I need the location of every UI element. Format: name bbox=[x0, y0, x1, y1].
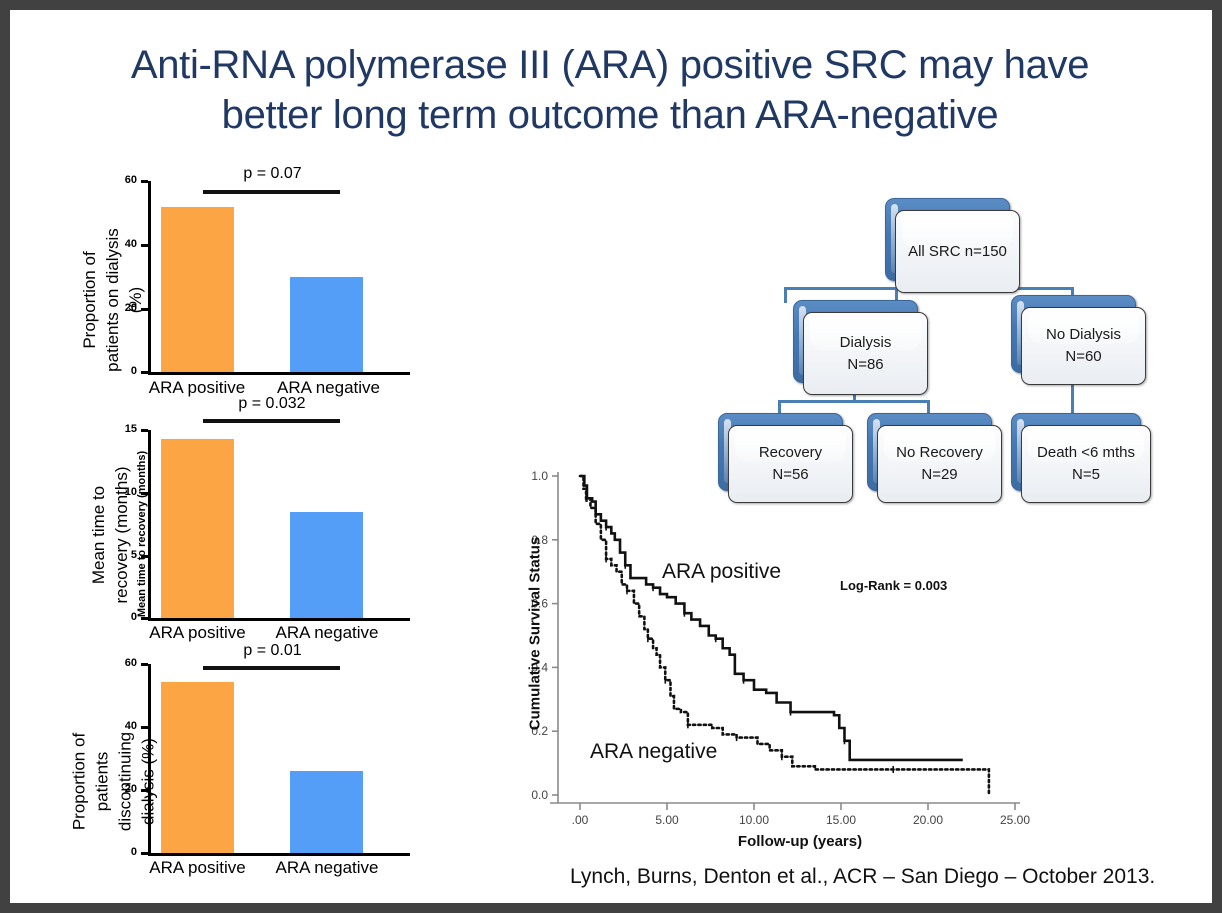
svg-text:25.00: 25.00 bbox=[1000, 813, 1030, 827]
chart2-ytick-label-15: 15 bbox=[109, 423, 137, 435]
chart3-significance-bar bbox=[203, 666, 340, 670]
chart1-bar-ara-negative[interactable] bbox=[290, 277, 363, 372]
chart3-y-axis bbox=[148, 664, 151, 856]
chart2-y-axis-label: Mean time to recovery (months) bbox=[87, 445, 137, 625]
flow-node-label: All SRC n=150 bbox=[908, 241, 1007, 263]
flow-node-count: N=56 bbox=[772, 464, 808, 486]
chart3-ytick-label-40: 40 bbox=[109, 720, 137, 732]
chart3-p-value: p = 0.01 bbox=[205, 642, 340, 660]
chart2-ytick-10 bbox=[141, 492, 148, 495]
chart3-ytick-40 bbox=[141, 726, 148, 729]
chart3-ytick-label-20: 20 bbox=[109, 783, 137, 795]
chart3-x-axis bbox=[148, 853, 410, 856]
km-censor-marks-positive bbox=[587, 495, 845, 744]
chart-discontinuing-dialysis: Proportion of patients discontinuing dia… bbox=[60, 642, 410, 887]
km-y-axis-label: Cumulative Survival Status bbox=[527, 524, 544, 744]
chart1-ytick-60 bbox=[141, 180, 148, 183]
title-line-1: Anti-RNA polymerase III (ARA) positive S… bbox=[131, 43, 1089, 87]
citation-footer: Lynch, Burns, Denton et al., ACR – San D… bbox=[570, 865, 1210, 889]
flow-node-dialysis[interactable]: Dialysis N=86 bbox=[793, 300, 928, 395]
chart3-category-label-positive: ARA positive bbox=[140, 858, 255, 878]
chart2-ytick-15 bbox=[141, 429, 148, 432]
flow-node-label: Dialysis bbox=[840, 332, 892, 354]
chart3-ytick-20 bbox=[141, 789, 148, 792]
chart2-significance-bar bbox=[203, 419, 340, 423]
km-x-ticks: .005.0010.0015.0020.0025.00 bbox=[572, 803, 1031, 827]
slide-canvas: Anti-RNA polymerase III (ARA) positive S… bbox=[10, 10, 1212, 903]
svg-text:5.00: 5.00 bbox=[655, 813, 679, 827]
flow-node-all-src[interactable]: All SRC n=150 bbox=[885, 198, 1020, 293]
flow-node-count: N=86 bbox=[847, 354, 883, 376]
chart2-y-axis-label-inner: Mean time to recovery (months) bbox=[136, 439, 148, 629]
chart1-ytick-label-60: 60 bbox=[109, 174, 137, 186]
chart2-category-label-negative: ARA negative bbox=[268, 623, 386, 643]
flow-node-count: N=60 bbox=[1065, 346, 1101, 368]
chart2-bar-ara-negative[interactable] bbox=[290, 512, 363, 618]
chart3-ytick-60 bbox=[141, 663, 148, 666]
km-log-rank-annotation: Log-Rank = 0.003 bbox=[840, 578, 947, 593]
page-title: Anti-RNA polymerase III (ARA) positive S… bbox=[70, 40, 1150, 140]
flow-node-label: No Recovery bbox=[896, 442, 983, 464]
chart2-ytick-0 bbox=[141, 617, 148, 620]
chart-kaplan-meier-survival: 0.00.20.40.60.81.0 .005.0010.0015.0020.0… bbox=[510, 450, 1070, 850]
src-outcome-flowchart: All SRC n=150 Dialysis N=86 No Dialysis … bbox=[700, 190, 1180, 520]
chart1-y-axis bbox=[148, 181, 151, 375]
chart1-ytick-label-40: 40 bbox=[109, 238, 137, 250]
chart1-ytick-0 bbox=[141, 371, 148, 374]
svg-text:20.00: 20.00 bbox=[913, 813, 943, 827]
svg-text:15.00: 15.00 bbox=[826, 813, 856, 827]
km-label-ara-negative: ARA negative bbox=[590, 740, 717, 764]
flow-node-label: Recovery bbox=[759, 442, 822, 464]
km-plot-canvas: 0.00.20.40.60.81.0 .005.0010.0015.0020.0… bbox=[510, 450, 1070, 850]
km-label-ara-positive: ARA positive bbox=[662, 560, 781, 584]
chart1-significance-bar bbox=[203, 190, 340, 194]
svg-text:10.00: 10.00 bbox=[739, 813, 769, 827]
title-line-2: better long term outcome than ARA-negati… bbox=[222, 93, 999, 137]
chart2-ytick-5 bbox=[141, 555, 148, 558]
connector-level2-horizontal bbox=[778, 400, 930, 403]
flow-node-no-dialysis[interactable]: No Dialysis N=60 bbox=[1011, 295, 1146, 385]
chart2-p-value: p = 0.032 bbox=[202, 395, 342, 413]
chart-dialysis-proportion: Proportion of patients on dialysis (%) 6… bbox=[60, 165, 410, 405]
flow-node-count: N=29 bbox=[921, 464, 957, 486]
chart2-ytick-label-0: 0 bbox=[109, 611, 137, 623]
flow-node-label: No Dialysis bbox=[1046, 324, 1121, 346]
km-curve-ara-positive bbox=[580, 476, 963, 760]
flow-node-label: Death <6 mths bbox=[1037, 442, 1135, 464]
chart2-x-axis bbox=[148, 618, 410, 621]
chart1-x-axis bbox=[148, 372, 410, 375]
km-x-axis-label: Follow-up (years) bbox=[700, 833, 900, 850]
chart2-ytick-label-5: 5 bbox=[109, 549, 137, 561]
chart2-bar-ara-positive[interactable] bbox=[161, 439, 234, 618]
chart1-ytick-label-0: 0 bbox=[109, 365, 137, 377]
flow-node-face: No Dialysis N=60 bbox=[1021, 307, 1146, 385]
chart3-bar-ara-positive[interactable] bbox=[161, 682, 234, 853]
svg-text:.00: .00 bbox=[572, 813, 589, 827]
chart3-ytick-label-60: 60 bbox=[109, 657, 137, 669]
km-censor-marks-negative bbox=[586, 495, 893, 773]
chart1-bar-ara-positive[interactable] bbox=[161, 207, 234, 372]
chart3-ytick-0 bbox=[141, 852, 148, 855]
flow-node-face: All SRC n=150 bbox=[895, 210, 1020, 293]
svg-text:1.0: 1.0 bbox=[531, 469, 548, 483]
flow-node-face: Dialysis N=86 bbox=[803, 312, 928, 395]
connector-to-dialysis bbox=[784, 287, 787, 303]
chart1-p-value: p = 0.07 bbox=[205, 165, 340, 183]
connector-no-dialysis-to-death bbox=[1071, 380, 1074, 417]
chart2-category-label-positive: ARA positive bbox=[140, 623, 255, 643]
chart3-ytick-label-0: 0 bbox=[109, 846, 137, 858]
svg-text:0.0: 0.0 bbox=[531, 788, 548, 802]
chart1-ytick-40 bbox=[141, 244, 148, 247]
chart3-category-label-negative: ARA negative bbox=[268, 858, 386, 878]
flow-node-count: N=5 bbox=[1072, 464, 1100, 486]
chart1-ytick-20 bbox=[141, 308, 148, 311]
chart2-y-axis bbox=[148, 430, 151, 620]
chart3-bar-ara-negative[interactable] bbox=[290, 771, 363, 853]
chart-time-to-recovery: Mean time to recovery (months) Mean time… bbox=[60, 405, 410, 650]
chart2-ytick-label-10: 10 bbox=[109, 486, 137, 498]
chart1-ytick-label-20: 20 bbox=[109, 302, 137, 314]
